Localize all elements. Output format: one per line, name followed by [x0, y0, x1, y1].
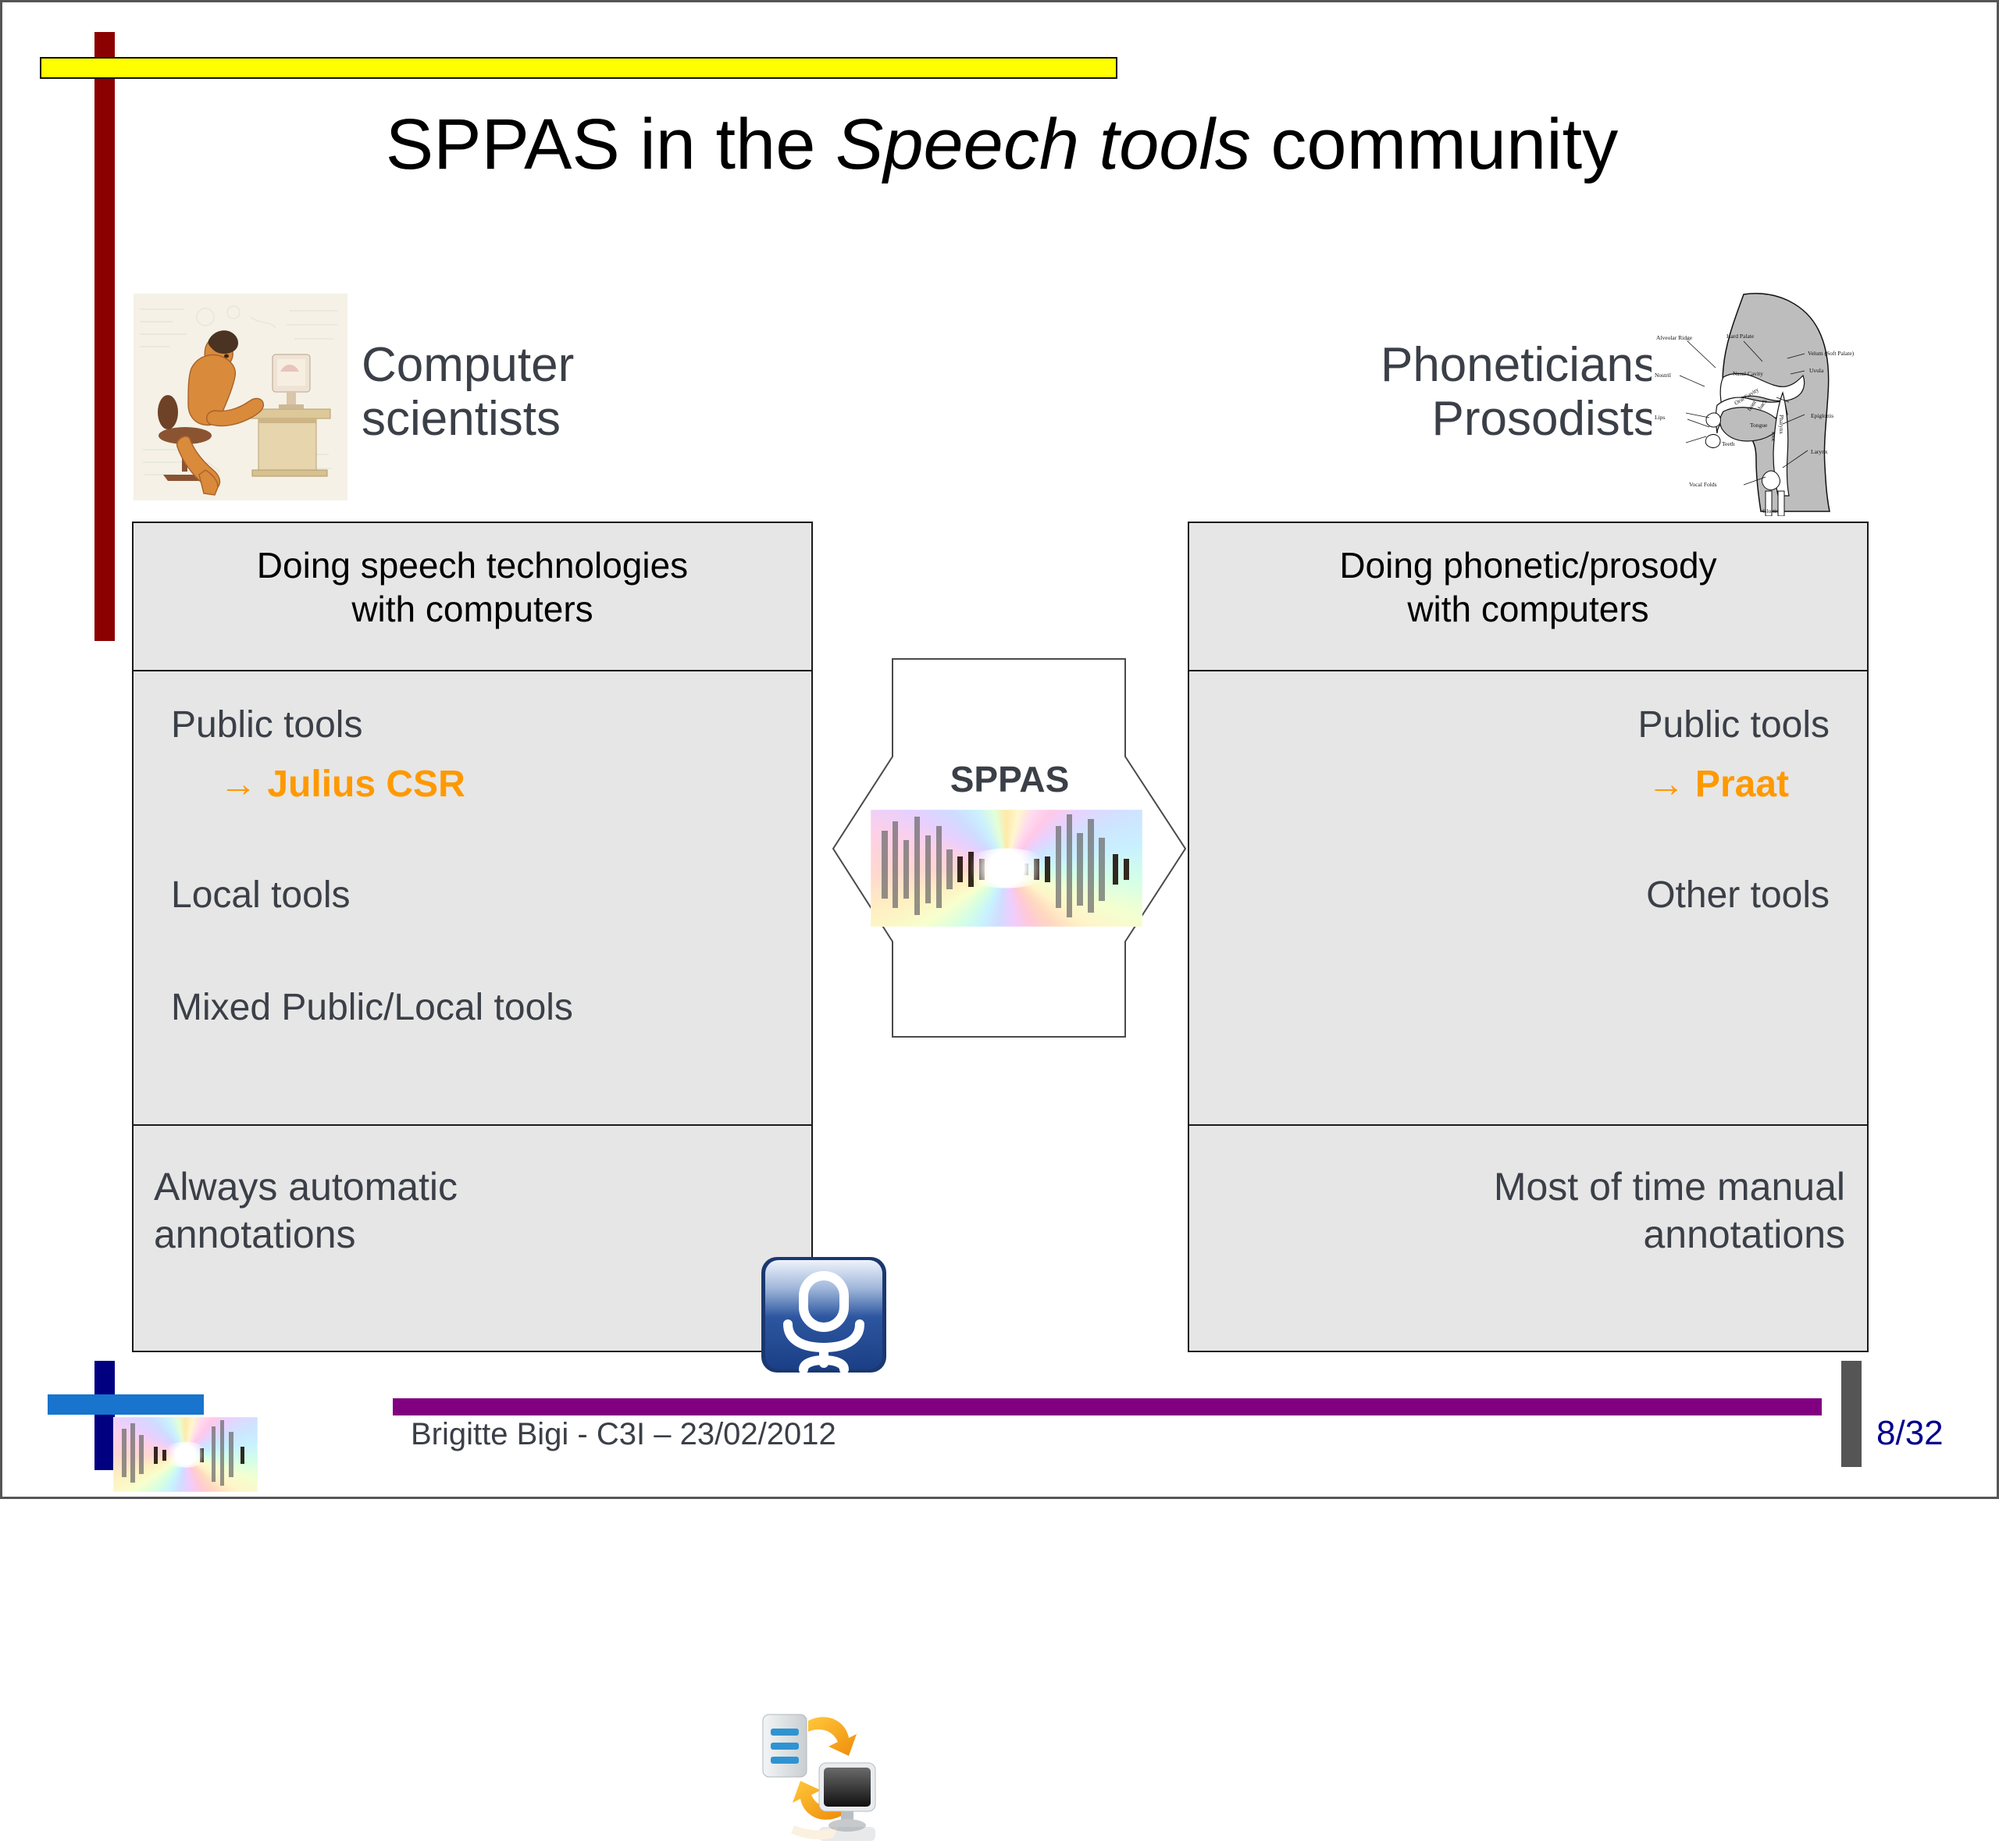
- title-part-post: community: [1251, 105, 1618, 184]
- title-part-italic: Speech tools: [836, 105, 1251, 184]
- purple-horizontal-bar: [393, 1398, 1822, 1415]
- gray-vertical-bar: [1841, 1361, 1862, 1467]
- svg-text:Pharynx: Pharynx: [1778, 415, 1785, 434]
- automatic-annotation-icon: [758, 1702, 891, 1843]
- right-panel-divider-top: [1189, 670, 1867, 671]
- left-panel-title: Doing speech technologies with computers: [134, 543, 811, 631]
- svg-text:Hard Palate: Hard Palate: [1726, 333, 1755, 340]
- blue-horizontal-bar: [48, 1394, 204, 1415]
- left-public-tool-entry: → Julius CSR: [219, 762, 465, 807]
- left-heading-line1: Computer: [362, 338, 574, 392]
- sppas-bidirectional-arrow: SPPAS: [830, 657, 1189, 1039]
- left-panel-divider-bottom: [134, 1124, 811, 1126]
- right-public-tool-entry: → Praat: [1648, 762, 1789, 807]
- right-panel-divider-bottom: [1189, 1124, 1867, 1126]
- sppas-label: SPPAS: [830, 758, 1189, 800]
- right-bottom-line1: Most of time manual: [1494, 1163, 1845, 1211]
- right-title-line1: Doing phonetic/prosody: [1189, 543, 1867, 587]
- left-heading-line2: scientists: [362, 392, 574, 446]
- right-other-tools-label: Other tools: [1646, 873, 1830, 918]
- svg-text:Alveolar Ridge: Alveolar Ridge: [1656, 334, 1693, 341]
- arrow-icon-right: →: [1648, 764, 1685, 805]
- page-title: SPPAS in the Speech tools community: [2, 104, 1999, 186]
- svg-text:Nasal Cavity: Nasal Cavity: [1733, 370, 1763, 377]
- right-public-tools-label: Public tools: [1638, 703, 1830, 748]
- right-panel: Doing phonetic/prosody with computers Pu…: [1188, 522, 1869, 1352]
- right-panel-title: Doing phonetic/prosody with computers: [1189, 543, 1867, 631]
- svg-text:Tongue: Tongue: [1750, 422, 1768, 429]
- svg-text:Teeth: Teeth: [1722, 440, 1735, 447]
- navy-vertical-bar: [94, 1361, 115, 1470]
- left-column-heading: Computer scientists: [362, 338, 574, 447]
- right-heading-line1: Phoneticians: [1096, 338, 1658, 392]
- footer-waveform-logo: [113, 1417, 258, 1492]
- left-panel-divider-top: [134, 670, 811, 671]
- right-title-line2: with computers: [1189, 587, 1867, 631]
- left-tool-name[interactable]: Julius CSR: [267, 764, 465, 805]
- left-bottom-line1: Always automatic: [154, 1163, 458, 1211]
- svg-text:Lips: Lips: [1655, 414, 1665, 421]
- title-part-pre: SPPAS in the: [386, 105, 836, 184]
- right-bottom-text: Most of time manual annotations: [1494, 1163, 1845, 1259]
- left-local-tools-label: Local tools: [171, 873, 350, 918]
- left-bottom-text: Always automatic annotations: [154, 1163, 458, 1259]
- svg-text:Epiglottis: Epiglottis: [1811, 412, 1833, 419]
- sppas-waveform-logo: [871, 810, 1142, 927]
- svg-text:Uvula: Uvula: [1809, 367, 1824, 374]
- footer-author-date: Brigitte Bigi - C3I – 23/02/2012: [411, 1417, 836, 1452]
- yellow-horizontal-bar: [40, 57, 1117, 79]
- svg-text:root: root: [1770, 432, 1777, 442]
- left-title-line1: Doing speech technologies: [134, 543, 811, 587]
- right-heading-line2: Prosodists: [1096, 392, 1658, 446]
- julius-microphone-icon: [757, 1255, 891, 1374]
- left-title-line2: with computers: [134, 587, 811, 631]
- left-public-tools-label: Public tools: [171, 703, 362, 748]
- vocal-tract-diagram: Alveolar Ridge Hard Palate Velum (Soft P…: [1652, 290, 1865, 516]
- slide-canvas: SPPAS in the Speech tools community: [0, 0, 1999, 1499]
- svg-text:Larynx: Larynx: [1811, 448, 1828, 455]
- right-bottom-line2: annotations: [1494, 1211, 1845, 1259]
- right-tool-name[interactable]: Praat: [1695, 764, 1789, 805]
- left-bottom-line2: annotations: [154, 1211, 458, 1259]
- right-column-heading: Phoneticians Prosodists: [1096, 338, 1658, 447]
- svg-text:Vocal Folds: Vocal Folds: [1689, 481, 1717, 488]
- svg-text:Glottis: Glottis: [1762, 507, 1779, 515]
- svg-text:Nostril: Nostril: [1655, 372, 1671, 379]
- page-number: 8/32: [1876, 1414, 1944, 1453]
- computer-scientist-photo: [134, 294, 347, 500]
- left-mixed-tools-label: Mixed Public/Local tools: [171, 985, 573, 1031]
- svg-text:Velum (Soft Palate): Velum (Soft Palate): [1808, 350, 1855, 357]
- left-panel: Doing speech technologies with computers…: [132, 522, 813, 1352]
- arrow-icon-left: →: [219, 764, 257, 805]
